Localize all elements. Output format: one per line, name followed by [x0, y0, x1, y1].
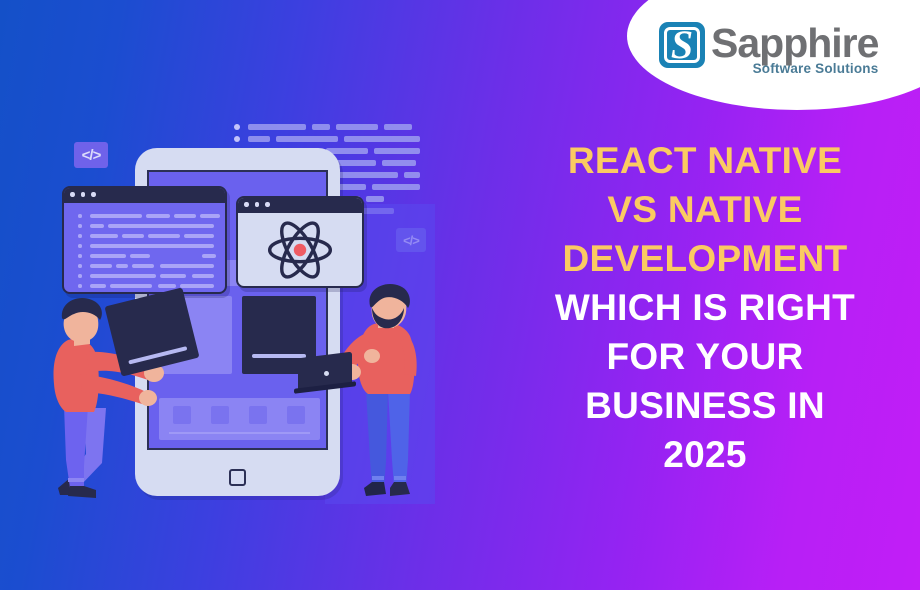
- laptop-icon: [298, 355, 358, 395]
- react-atom-icon: [265, 219, 335, 281]
- phone-home-button: [229, 469, 246, 486]
- headline-block: REACT NATIVE VS NATIVE DEVELOPMENT WHICH…: [505, 136, 905, 479]
- developer-with-laptop-illustration: [330, 280, 450, 506]
- logo-wordmark: Sapphire: [711, 22, 878, 64]
- banner-image: </> </>: [0, 0, 920, 590]
- window-dot-icon: [265, 202, 270, 207]
- code-lines-area: [64, 203, 225, 293]
- react-logo-area: [238, 213, 362, 286]
- window-dot-icon: [244, 202, 249, 207]
- headline-line-1: REACT NATIVE: [505, 136, 905, 185]
- headline-line-7: 2025: [505, 430, 905, 479]
- headline-line-4: WHICH IS RIGHT: [505, 283, 905, 332]
- window-dot-icon: [70, 192, 75, 197]
- headline-line-6: BUSINESS IN: [505, 381, 905, 430]
- developer-carrying-panel-illustration: [34, 288, 174, 506]
- window-dot-icon: [81, 192, 86, 197]
- window-titlebar: [62, 186, 227, 203]
- headline-line-3: DEVELOPMENT: [505, 234, 905, 283]
- headline-line-2: VS NATIVE: [505, 185, 905, 234]
- window-titlebar: [236, 196, 364, 213]
- sapphire-s-mark-icon: S: [659, 22, 705, 68]
- headline-line-5: FOR YOUR: [505, 332, 905, 381]
- company-logo: S Sapphire Software Solutions: [659, 22, 878, 78]
- code-badge-label: </>: [82, 147, 101, 164]
- hero-illustration: </> </>: [0, 0, 520, 590]
- window-dot-icon: [91, 192, 96, 197]
- code-badge-top-left-icon: </>: [74, 142, 108, 168]
- phone-navbar: [159, 398, 320, 440]
- react-logo-window: [236, 196, 364, 288]
- code-editor-window: [62, 186, 227, 294]
- window-dot-icon: [255, 202, 260, 207]
